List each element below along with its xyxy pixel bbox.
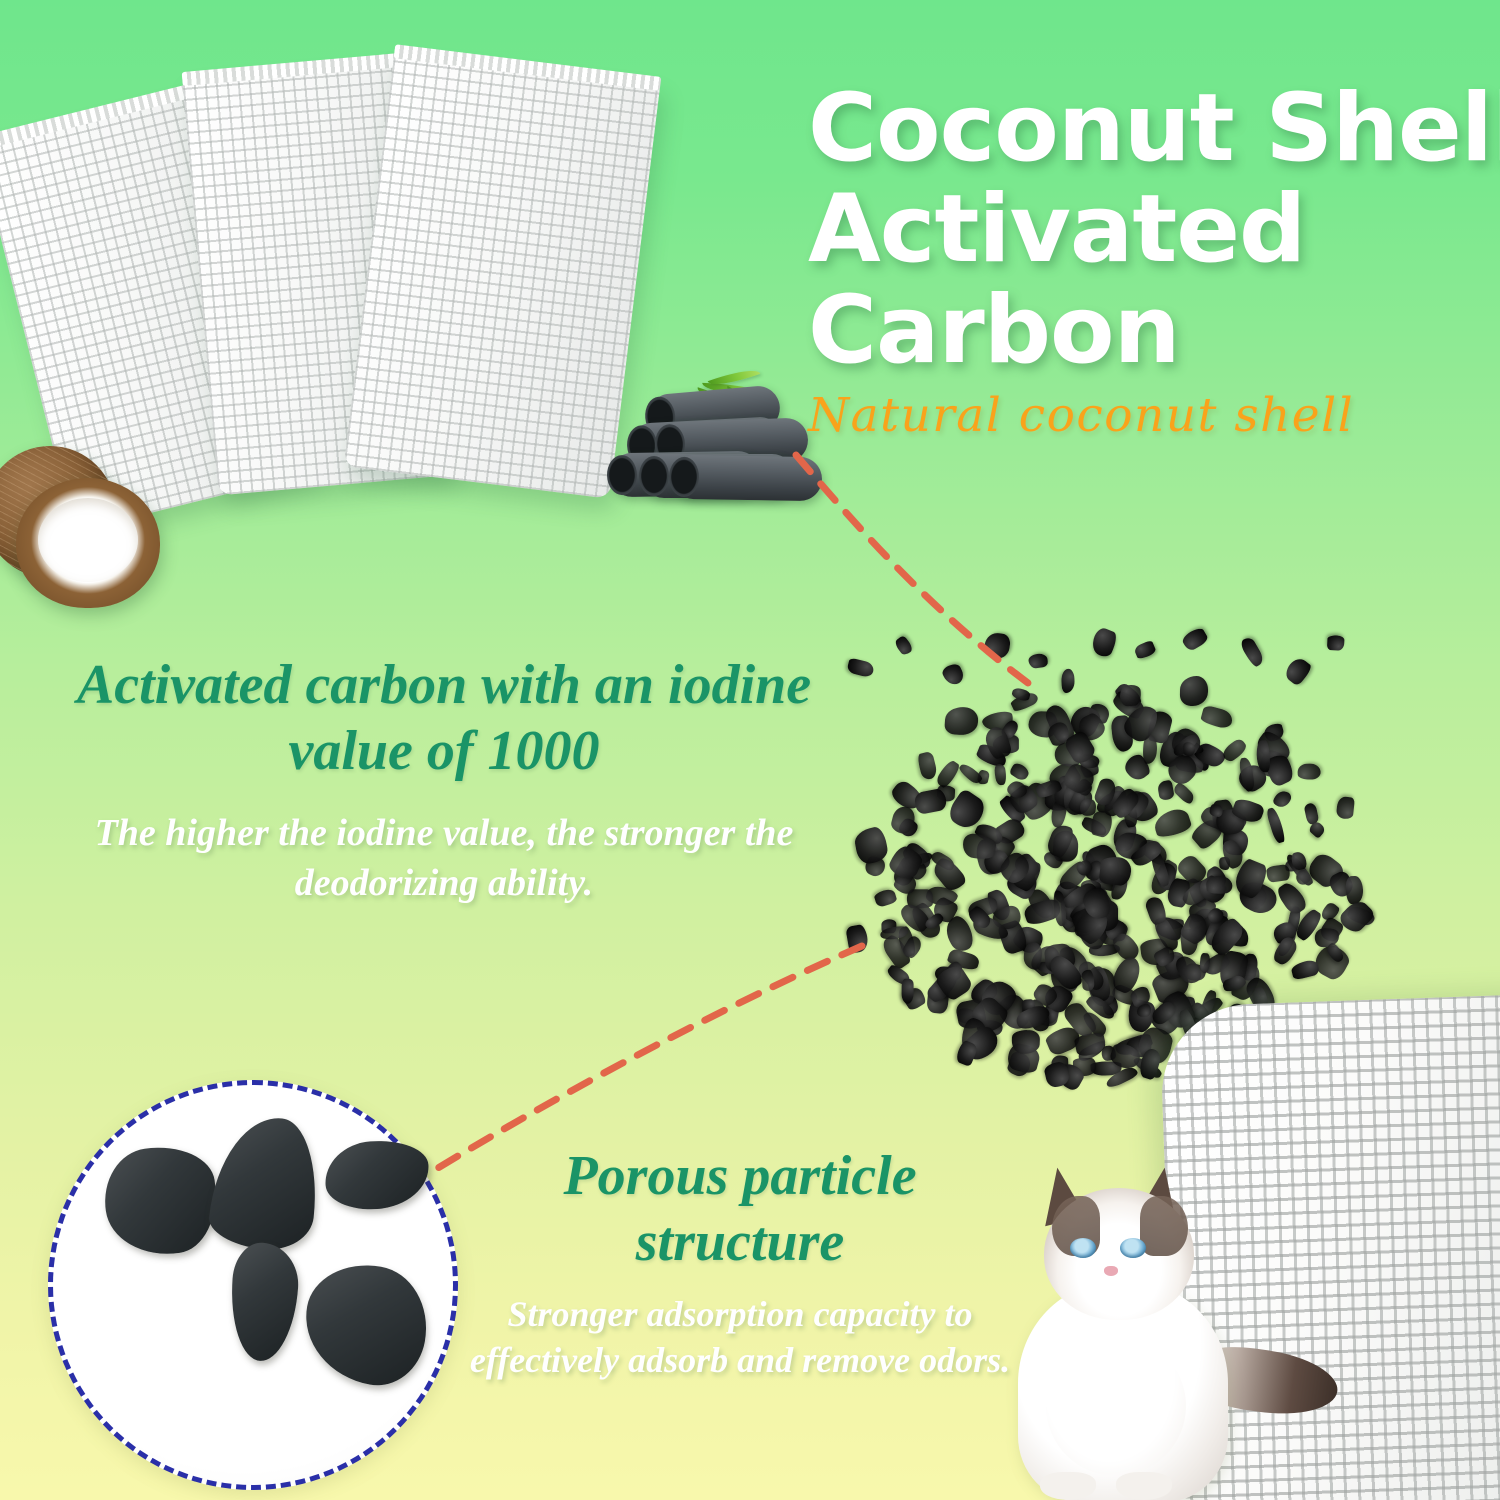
magnified-carbon-inset [48, 1080, 458, 1490]
carbon-granule [1290, 959, 1320, 981]
carbon-granule [1266, 863, 1291, 882]
carbon-granule [1181, 626, 1210, 653]
carbon-granule [1239, 635, 1266, 668]
dashed-arrow-granules-to-inset [438, 946, 862, 1168]
carbon-granule [983, 632, 1012, 660]
poster-title-block: Coconut Shell Activated Carbon Natural c… [808, 78, 1488, 443]
ragdoll-cat [1000, 1150, 1290, 1500]
carbon-granule [845, 923, 870, 953]
feature-heading-porous-structure: Porous particle structure [455, 1143, 1025, 1275]
carbon-granule [873, 888, 897, 909]
charcoal-tube-stack [610, 390, 830, 520]
carbon-granule [1009, 762, 1031, 783]
carbon-granule [1144, 895, 1169, 926]
carbon-granule [901, 979, 913, 1004]
carbon-chunk [98, 1140, 224, 1263]
carbon-granule [1157, 779, 1175, 800]
carbon-granule [935, 758, 962, 789]
carbon-granule [1089, 626, 1120, 659]
title-line-1: Coconut Shell [808, 78, 1488, 179]
coconut-half-icon [16, 478, 160, 608]
carbon-granule [1346, 876, 1365, 904]
carbon-granule [1327, 635, 1345, 651]
carbon-granule [853, 825, 889, 864]
title-line-2: Activated [808, 179, 1488, 280]
carbon-chunk [227, 1241, 301, 1363]
feature-body-iodine-value: The higher the iodine value, the stronge… [44, 808, 844, 908]
carbon-granule [893, 634, 915, 656]
carbon-chunk [296, 1255, 437, 1392]
carbon-granule [1206, 875, 1233, 895]
carbon-chunk [206, 1112, 323, 1254]
carbon-granule [1200, 705, 1234, 730]
carbon-granule [944, 706, 979, 736]
carbon-granule [1239, 757, 1255, 793]
poster-subtitle: Natural coconut shell [808, 389, 1488, 443]
carbon-granule [1137, 1003, 1151, 1016]
carbon-granule [993, 763, 1007, 785]
feature-block-iodine-value: Activated carbon with an iodine value of… [44, 652, 844, 908]
cat-eye-right [1120, 1238, 1146, 1258]
carbon-granule [1265, 807, 1286, 845]
title-line-3: Carbon [808, 280, 1488, 381]
carbon-granule [1081, 970, 1094, 992]
cat-paw-left [1040, 1472, 1096, 1500]
carbon-granule [1172, 781, 1197, 806]
cat-nose [1104, 1266, 1118, 1276]
carbon-granule [940, 661, 966, 688]
carbon-granule [1098, 856, 1131, 887]
feature-block-porous-structure: Porous particle structure Stronger adsor… [455, 1143, 1025, 1383]
carbon-granule [1297, 762, 1321, 779]
carbon-granule [1133, 640, 1157, 661]
cat-paw-right [1116, 1472, 1172, 1500]
product-infographic-poster: Coconut Shell Activated Carbon Natural c… [0, 0, 1500, 1500]
feature-heading-iodine-value: Activated carbon with an iodine value of… [44, 652, 844, 784]
carbon-granule [846, 657, 875, 678]
carbon-granule [917, 751, 939, 781]
feature-body-porous-structure: Stronger adsorption capacity to effectiv… [455, 1291, 1025, 1383]
carbon-granule [1180, 675, 1208, 706]
carbon-granule [1028, 652, 1049, 669]
carbon-granule [1060, 669, 1074, 693]
cat-chest [1046, 1336, 1186, 1476]
charcoal-tube [672, 455, 823, 502]
carbon-granule [1079, 798, 1097, 817]
carbon-granule [1282, 655, 1313, 687]
carbon-granule [1336, 796, 1355, 819]
carbon-granule [1272, 788, 1293, 810]
cat-eye-left [1070, 1238, 1096, 1258]
carbon-chunk [323, 1137, 431, 1212]
